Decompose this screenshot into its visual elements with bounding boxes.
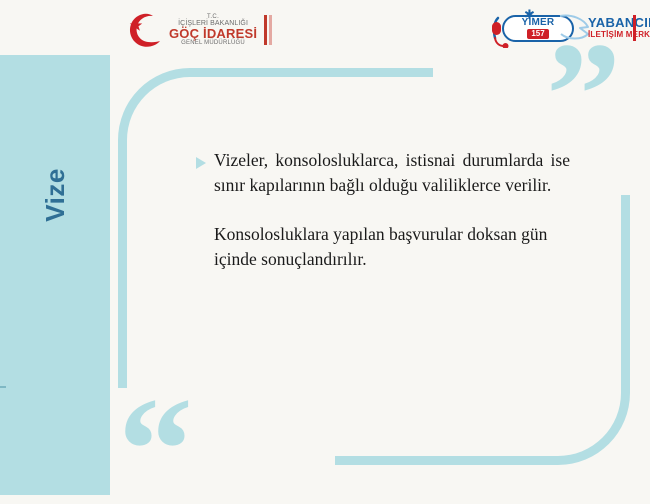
goc-idaresi-logo: T.C. İÇİŞLERİ BAKANLIĞI GÖÇ İDARESİ GENE…: [124, 8, 274, 52]
turkish-crescent-star-icon: [124, 11, 164, 49]
yimer-title: YABANCILAR: [588, 16, 650, 30]
frame-top-line: [195, 68, 433, 77]
sidebar-tick-marker: [0, 386, 6, 388]
yimer-157-logo: YİMER 157 ✱ YABANCILAR İLETİŞİM MERKEZİ: [492, 6, 642, 52]
slide-canvas: Vize ” “ T.C. İÇİŞLERİ BAKANLIĞI GÖÇ İDA…: [0, 0, 650, 504]
bullet-list-item: Vizeler, konsolosluklarca, istisnai duru…: [196, 148, 570, 198]
header-bar: T.C. İÇİŞLERİ BAKANLIĞI GÖÇ İDARESİ GENE…: [0, 0, 650, 55]
goc-line-directorate: GENEL MÜDÜRLÜĞÜ: [169, 40, 257, 46]
frame-top-left-arc: [118, 68, 208, 388]
content-area: Vizeler, konsolosluklarca, istisnai duru…: [196, 148, 570, 271]
goc-line-name: GÖÇ İDARESİ: [169, 27, 257, 40]
star-icon: ✱: [524, 8, 535, 21]
yimer-divider-bar-icon: [633, 15, 636, 41]
yimer-subtitle: İLETİŞİM MERKEZİ: [588, 30, 650, 40]
paragraph-2: Konsolosluklara yapılan başvurular doksa…: [214, 222, 570, 272]
frame-bottom-line: [335, 456, 530, 465]
speech-bubble-icon: [558, 12, 592, 44]
goc-idaresi-wordmark: T.C. İÇİŞLERİ BAKANLIĞI GÖÇ İDARESİ GENE…: [169, 14, 257, 47]
paragraph-1: Vizeler, konsolosluklarca, istisnai duru…: [214, 148, 570, 198]
quote-mark-open-icon: “: [118, 375, 193, 504]
sidebar-panel-cap: [0, 495, 110, 504]
page-title: Vize: [35, 120, 75, 270]
yimer-number-badge: 157: [527, 29, 548, 39]
triangle-bullet-icon: [196, 157, 206, 169]
goc-divider-bars-icon: [264, 8, 272, 52]
yimer-title-block: YABANCILAR İLETİŞİM MERKEZİ: [588, 16, 650, 39]
